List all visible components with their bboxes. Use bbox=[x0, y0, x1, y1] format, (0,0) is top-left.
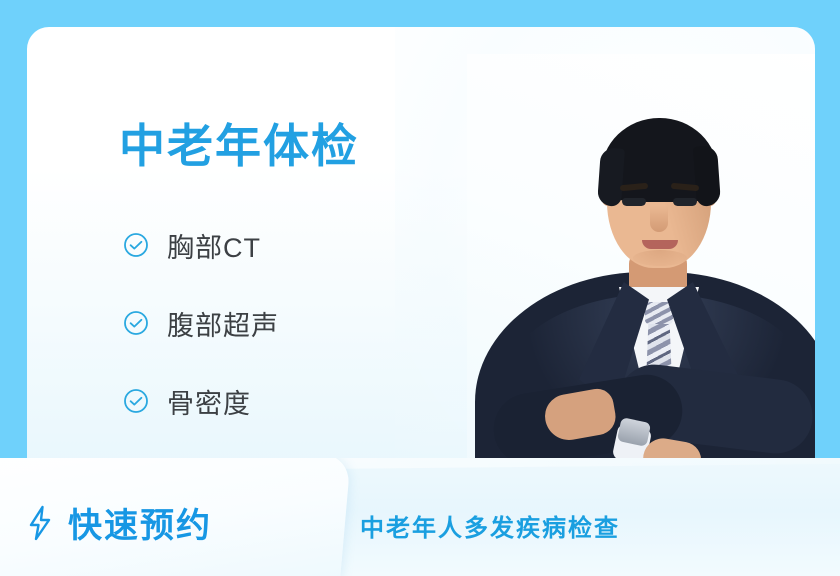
check-circle-icon bbox=[123, 388, 149, 414]
background-rail-top bbox=[0, 0, 840, 27]
list-item: 腹部超声 bbox=[123, 295, 279, 351]
lightning-bolt-icon bbox=[26, 505, 54, 541]
list-item: 骨密度 bbox=[123, 373, 279, 429]
tagline: 中老年人多发疾病检查 bbox=[360, 508, 620, 543]
feature-label: 骨密度 bbox=[167, 382, 251, 421]
photo-necktie-knot bbox=[645, 302, 673, 324]
quick-booking-content[interactable]: 快速预约 bbox=[26, 498, 212, 547]
feature-label: 胸部CT bbox=[167, 226, 261, 265]
background-rail-right bbox=[814, 0, 840, 462]
photo-eye-right bbox=[673, 198, 697, 206]
feature-list: 胸部CT 腹部超声 骨密度 bbox=[123, 217, 279, 429]
page-title: 中老年体检 bbox=[119, 123, 359, 169]
photo-hair-side-left bbox=[597, 147, 625, 207]
photo-mouth bbox=[642, 240, 678, 249]
quick-booking-label: 快速预约 bbox=[68, 498, 212, 547]
feature-label: 腹部超声 bbox=[167, 304, 279, 343]
check-circle-icon bbox=[123, 310, 149, 336]
photo-nose bbox=[650, 206, 668, 232]
list-item: 胸部CT bbox=[123, 217, 279, 273]
promo-poster: 中老年体检 胸部CT 腹部超声 bbox=[0, 0, 840, 576]
package-card: 中老年体检 胸部CT 腹部超声 bbox=[27, 27, 815, 497]
bottom-bar: 快速预约 中老年人多发疾病检查 bbox=[0, 458, 840, 576]
portrait-photo bbox=[467, 54, 815, 497]
check-circle-icon bbox=[123, 232, 149, 258]
photo-chin bbox=[633, 250, 687, 266]
photo-eye-left bbox=[622, 198, 646, 206]
photo-hair-side-right bbox=[693, 145, 721, 207]
background-rail-left bbox=[0, 0, 27, 455]
